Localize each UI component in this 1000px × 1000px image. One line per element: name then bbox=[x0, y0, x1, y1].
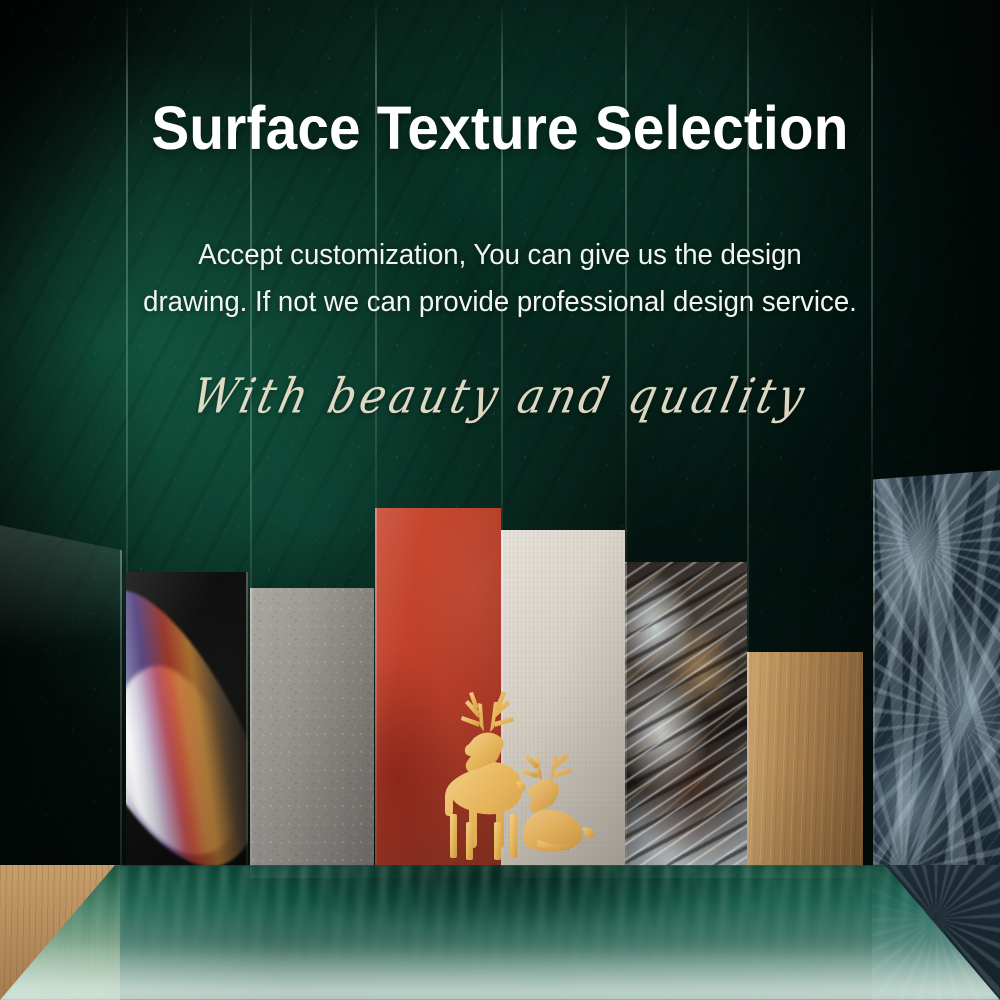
panel-edge-highlight bbox=[747, 652, 749, 878]
panel-edge-highlight bbox=[375, 508, 377, 878]
deer-resting-icon bbox=[508, 740, 600, 860]
texture-panel-iridescent[interactable] bbox=[126, 572, 248, 877]
panel-edge-highlight bbox=[873, 470, 875, 900]
page-subtitle: Accept customization, You can give us th… bbox=[25, 232, 975, 326]
panel-edge-highlight bbox=[625, 562, 627, 878]
brushed-brass-surface bbox=[747, 652, 863, 878]
subtitle-line-1: Accept customization, You can give us th… bbox=[25, 232, 975, 279]
panel-edge-highlight bbox=[250, 588, 252, 878]
page-title: Surface Texture Selection bbox=[35, 96, 965, 160]
texture-panel-grey-stone[interactable] bbox=[250, 588, 374, 878]
panel-edge-highlight bbox=[246, 572, 248, 877]
grey-stone-grain bbox=[250, 588, 374, 878]
texture-panel-agate-marble[interactable] bbox=[625, 562, 747, 878]
reflective-glass-floor bbox=[0, 865, 1000, 1000]
subtitle-line-2: drawing. If not we can provide professio… bbox=[25, 279, 975, 326]
script-tagline: With beauty and quality bbox=[0, 369, 1000, 425]
iridescent-gloss bbox=[126, 572, 248, 877]
promo-banner: Surface Texture Selection Accept customi… bbox=[0, 0, 1000, 1000]
texture-panel-blue-frost-marble[interactable] bbox=[873, 470, 1000, 900]
texture-panel-brushed-brass[interactable] bbox=[747, 652, 863, 878]
blue-frost-striations bbox=[873, 470, 1000, 900]
floor-glow bbox=[0, 942, 1000, 1000]
agate-marble-veins bbox=[625, 562, 747, 878]
